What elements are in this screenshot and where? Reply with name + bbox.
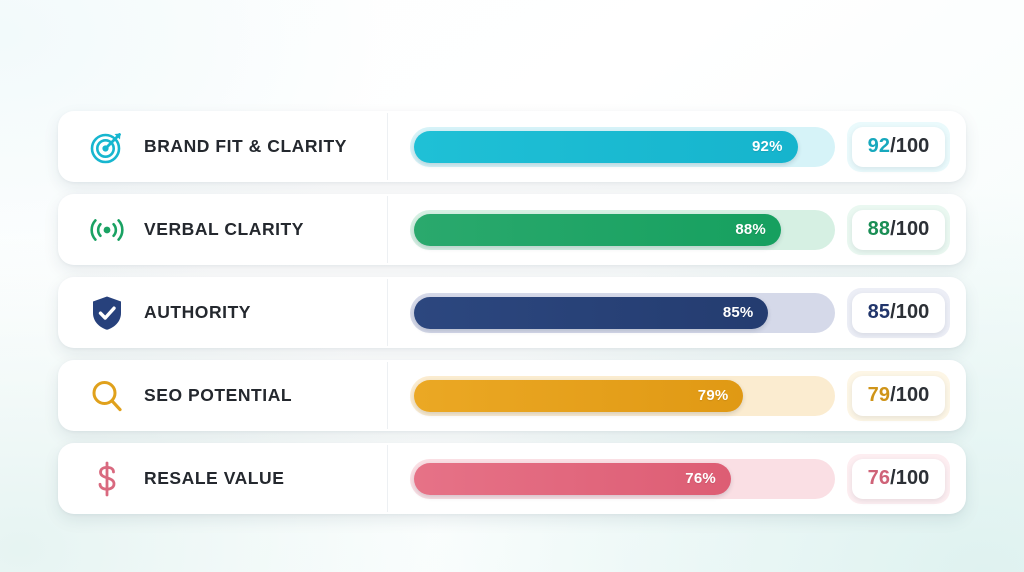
score-badge: 88 /100	[852, 210, 945, 250]
progress-fill: 85%	[414, 297, 768, 329]
score-badge-shell: 88 /100	[847, 205, 950, 255]
score-row-title: RESALE VALUE	[144, 468, 284, 489]
broadcast-icon	[86, 209, 128, 251]
progress-percent-label: 85%	[723, 304, 754, 321]
score-badge-shell: 92 /100	[847, 122, 950, 172]
score-row-meter-area: 76% 76 /100	[388, 443, 966, 514]
score-value: 76	[868, 467, 890, 490]
score-row-meter-area: 85% 85 /100	[388, 277, 966, 348]
score-row-list: BRAND FIT & CLARITY 92% 92 /100	[58, 111, 966, 514]
score-total: /100	[890, 301, 929, 324]
score-badge: 85 /100	[852, 293, 945, 333]
score-row[interactable]: AUTHORITY 85% 85 /100	[58, 277, 966, 348]
score-badge-shell: 79 /100	[847, 371, 950, 421]
score-row-label-area: SEO POTENTIAL	[58, 360, 388, 431]
progress-percent-label: 92%	[752, 138, 783, 155]
score-row[interactable]: RESALE VALUE 76% 76 /100	[58, 443, 966, 514]
scorecard-page: BRAND FIT & CLARITY 92% 92 /100	[0, 0, 1024, 572]
progress-fill: 79%	[414, 380, 743, 412]
score-badge: 92 /100	[852, 127, 945, 167]
score-value: 92	[868, 135, 890, 158]
progress-fill: 92%	[414, 131, 798, 163]
progress-track[interactable]: 92%	[410, 127, 835, 167]
score-row-label-area: RESALE VALUE	[58, 443, 388, 514]
score-row-title: SEO POTENTIAL	[144, 385, 292, 406]
progress-track[interactable]: 76%	[410, 459, 835, 499]
magnifier-icon	[86, 375, 128, 417]
score-badge: 79 /100	[852, 376, 945, 416]
score-row-meter-area: 79% 79 /100	[388, 360, 966, 431]
score-row-meter-area: 92% 92 /100	[388, 111, 966, 182]
score-row-meter-area: 88% 88 /100	[388, 194, 966, 265]
progress-percent-label: 88%	[735, 221, 766, 238]
score-row-title: AUTHORITY	[144, 302, 251, 323]
score-value: 85	[868, 301, 890, 324]
progress-track[interactable]: 85%	[410, 293, 835, 333]
score-value: 88	[868, 218, 890, 241]
progress-percent-label: 79%	[698, 387, 729, 404]
progress-fill: 76%	[414, 463, 731, 495]
dollar-icon	[86, 458, 128, 500]
score-row-label-area: BRAND FIT & CLARITY	[58, 111, 388, 182]
score-badge-shell: 76 /100	[847, 454, 950, 504]
score-row-label-area: VERBAL CLARITY	[58, 194, 388, 265]
score-row[interactable]: SEO POTENTIAL 79% 79 /100	[58, 360, 966, 431]
score-badge-shell: 85 /100	[847, 288, 950, 338]
score-total: /100	[890, 467, 929, 490]
progress-track[interactable]: 79%	[410, 376, 835, 416]
progress-fill: 88%	[414, 214, 781, 246]
target-icon	[86, 126, 128, 168]
score-badge: 76 /100	[852, 459, 945, 499]
score-total: /100	[890, 218, 929, 241]
score-row[interactable]: VERBAL CLARITY 88% 88 /100	[58, 194, 966, 265]
progress-track[interactable]: 88%	[410, 210, 835, 250]
score-row-label-area: AUTHORITY	[58, 277, 388, 348]
score-row-title: BRAND FIT & CLARITY	[144, 136, 347, 157]
score-total: /100	[890, 384, 929, 407]
score-total: /100	[890, 135, 929, 158]
score-row[interactable]: BRAND FIT & CLARITY 92% 92 /100	[58, 111, 966, 182]
score-row-title: VERBAL CLARITY	[144, 219, 304, 240]
progress-percent-label: 76%	[685, 470, 716, 487]
shield-check-icon	[86, 292, 128, 334]
score-value: 79	[868, 384, 890, 407]
